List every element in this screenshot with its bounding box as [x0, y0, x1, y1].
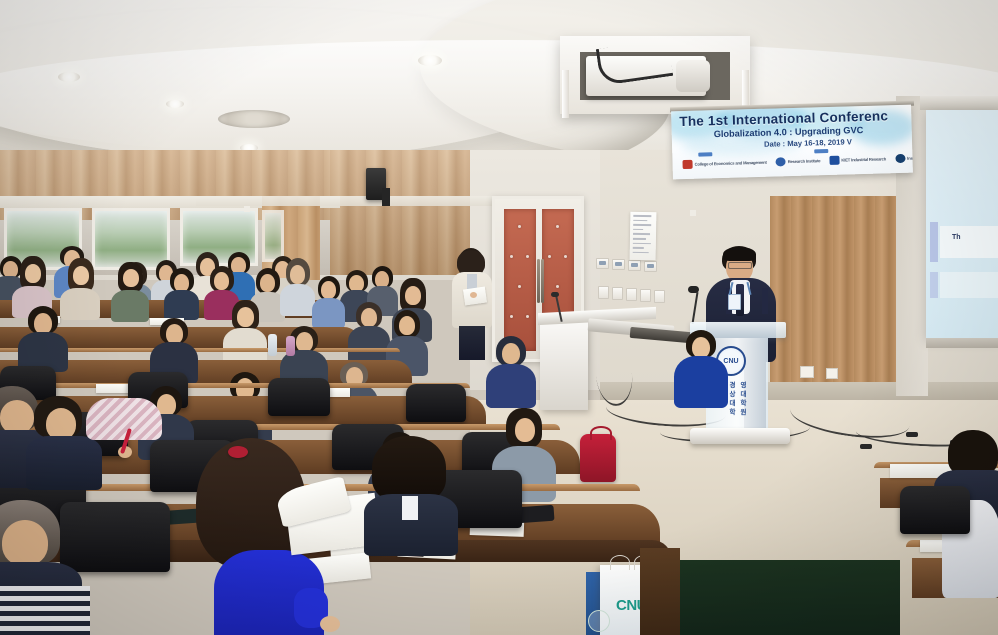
handbag-handle [590, 426, 612, 440]
projector-lens-icon [676, 60, 710, 92]
hand [470, 292, 477, 298]
screen-roller-case [920, 96, 998, 110]
wall-switch-plate[interactable] [640, 289, 651, 302]
chair [406, 384, 466, 422]
conference-banner: The 1st International Conferenc Globaliz… [671, 105, 913, 180]
wall-switch-plate[interactable] [612, 259, 625, 270]
bag-seal-icon [588, 610, 610, 632]
podium-base [690, 428, 790, 444]
desk-side-panel [640, 548, 680, 635]
chair [268, 378, 330, 416]
desk-edge [0, 383, 470, 388]
wall-paper-notice [630, 212, 657, 260]
hair-tie [228, 446, 248, 458]
conference-photo: The 1st International Conferenc Globaliz… [0, 0, 998, 635]
tumbler [286, 336, 295, 356]
projection-screen: Th [926, 110, 998, 338]
sponsor-logo: Institute [895, 152, 913, 163]
window-blind-header [196, 196, 496, 206]
air-vent-icon [218, 110, 290, 128]
wall-switch-plate[interactable] [612, 287, 623, 300]
window-pane [262, 210, 284, 262]
slide-text: Th [952, 234, 961, 241]
smartphone-icon [517, 505, 554, 523]
chair [60, 502, 170, 572]
korean-column-1: 경 상 대 학 [730, 382, 736, 416]
av-control-cabinet[interactable] [540, 318, 588, 410]
screen-weight-bar [926, 338, 998, 348]
name-badge [728, 294, 741, 310]
power-outlet[interactable] [800, 366, 814, 378]
window-pane-spacer [244, 206, 250, 212]
patterned-blouse [86, 398, 162, 440]
microphone-head-icon [551, 292, 559, 297]
cable-connector [860, 444, 872, 449]
wall-switch-plate[interactable] [598, 286, 609, 299]
wall-switch-plate[interactable] [644, 261, 657, 272]
wall-switch-plate[interactable] [626, 288, 637, 301]
sponsor-logo: College of Economics and Management [682, 157, 766, 169]
cable-connector [906, 432, 918, 437]
wall-switch-plate[interactable] [628, 260, 641, 271]
podium-microphone-head-icon [688, 286, 699, 293]
window-pane [92, 208, 170, 270]
red-handbag [580, 434, 616, 482]
suit-jacket [26, 436, 102, 490]
door-leaf-left-padding [504, 209, 536, 351]
emblem-text: CNU [723, 358, 738, 365]
chair [900, 486, 970, 534]
eyeglasses-icon [728, 262, 752, 269]
korean-column-2: 영 대 학 원 [741, 382, 747, 416]
door-handle-right[interactable] [541, 259, 544, 303]
hand [320, 616, 340, 632]
loudspeaker-bracket [382, 188, 390, 206]
striped-shirt [0, 586, 90, 635]
water-bottle [268, 334, 277, 356]
downlight-icon [418, 55, 442, 66]
floor-carpet [660, 560, 900, 635]
sponsor-logo: Research Institute [776, 155, 821, 166]
window-pane-spacer [690, 210, 696, 216]
wall-switch-plate[interactable] [654, 290, 665, 303]
door-handle-left[interactable] [537, 259, 540, 303]
wall-switch-plate[interactable] [596, 258, 609, 269]
shirt-collar [402, 496, 418, 520]
sponsor-logo: KIET Industrial Research [829, 153, 886, 165]
downlight-icon [166, 100, 184, 108]
power-outlet[interactable] [826, 368, 838, 379]
assistant-legs [459, 326, 485, 360]
projector-mount-post [562, 70, 569, 118]
downlight-icon [58, 72, 80, 82]
